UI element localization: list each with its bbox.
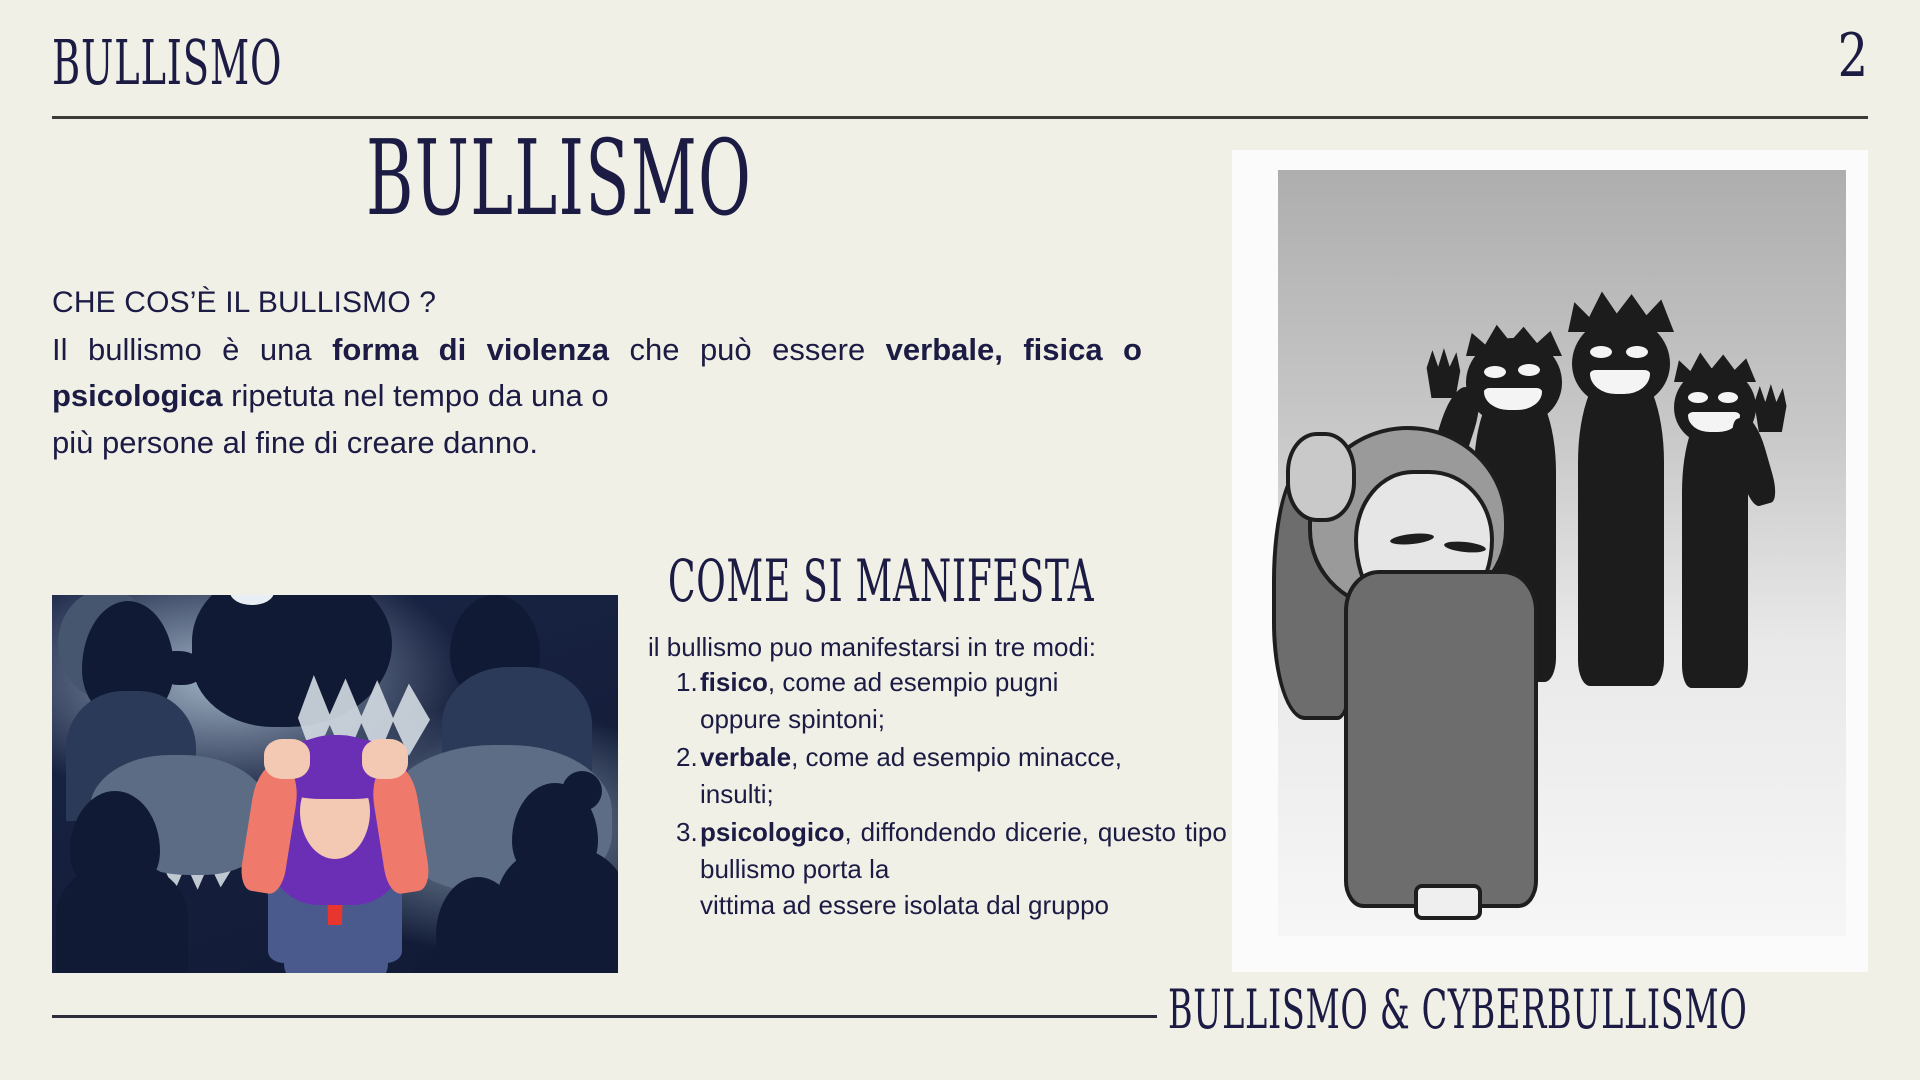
intro-text-2: che può essere xyxy=(609,332,886,367)
intro-bold-1: forma di violenza xyxy=(332,332,609,367)
bully-1-eye-right xyxy=(1518,364,1540,376)
right-photo xyxy=(1232,150,1868,972)
intro-text-4: più persone al fine di creare danno. xyxy=(52,420,1142,467)
bully-2-eye-right xyxy=(1626,346,1648,358)
list-item-rest: , come ad esempio minacce, xyxy=(791,742,1122,772)
bully-3-eye-right xyxy=(1718,392,1738,403)
list-item-tail: oppure spintoni; xyxy=(700,701,1256,738)
bully-2-body xyxy=(1578,366,1664,686)
page-number: 2 xyxy=(1837,26,1868,86)
section-heading-manifesta: COME SI MANIFESTA xyxy=(668,552,1094,610)
list-item-tail: insulti; xyxy=(700,776,1256,813)
header-divider xyxy=(52,116,1868,119)
page-title: BULLISMO xyxy=(366,126,752,230)
intro-question: CHE COS’È IL BULLISMO ? xyxy=(52,282,1142,325)
list-item-term: fisico xyxy=(700,667,768,697)
intro-block: CHE COS’È IL BULLISMO ? Il bullismo è un… xyxy=(52,282,1142,466)
list-item: verbale, come ad esempio minacce, insult… xyxy=(648,739,1256,813)
slide: BULLISMO 2 BULLISMO CHE COS’È IL BULLISM… xyxy=(0,0,1920,1080)
list-item: fisico, come ad esempio pugni oppure spi… xyxy=(648,664,1256,738)
manifesta-list: fisico, come ad esempio pugni oppure spi… xyxy=(648,664,1256,925)
victim-hand-right xyxy=(362,739,408,779)
list-item-term: verbale xyxy=(700,742,791,772)
left-illustration xyxy=(52,595,618,973)
header-title: BULLISMO xyxy=(52,32,282,94)
footer-text: BULLISMO & CYBERBULLISMO xyxy=(1168,983,1747,1037)
victim-legs xyxy=(284,925,388,973)
list-item-term: psicologico xyxy=(700,817,844,847)
manifesta-lead: il bullismo puo manifestarsi in tre modi… xyxy=(648,630,1248,666)
bully-2-hair xyxy=(1568,288,1674,332)
bully-3-eye-left xyxy=(1688,392,1708,403)
silhouette-bun-mid-right xyxy=(562,771,602,811)
bully-1-eye-left xyxy=(1484,366,1506,378)
intro-text-3: ripetuta nel tempo da una o xyxy=(223,378,609,413)
intro-paragraph: Il bullismo è una forma di violenza che … xyxy=(52,327,1142,467)
sad-boy-cuff xyxy=(1414,884,1482,920)
list-item-rest: , come ad esempio pugni xyxy=(768,667,1059,697)
victim-hand-left xyxy=(264,739,310,779)
sad-boy-hand xyxy=(1286,432,1356,522)
bully-1-hair xyxy=(1466,322,1562,356)
footer-divider xyxy=(52,1015,1157,1018)
sad-boy-body xyxy=(1344,570,1538,908)
intro-text-1: Il bullismo è una xyxy=(52,332,332,367)
list-item: psicologico, diffondendo dicerie, questo… xyxy=(648,814,1256,925)
bully-3-hair xyxy=(1674,350,1756,382)
photo-inner-panel xyxy=(1278,170,1846,936)
bully-2-eye-left xyxy=(1590,346,1612,358)
list-item-tail: vittima ad essere isolata dal gruppo xyxy=(700,887,1256,924)
